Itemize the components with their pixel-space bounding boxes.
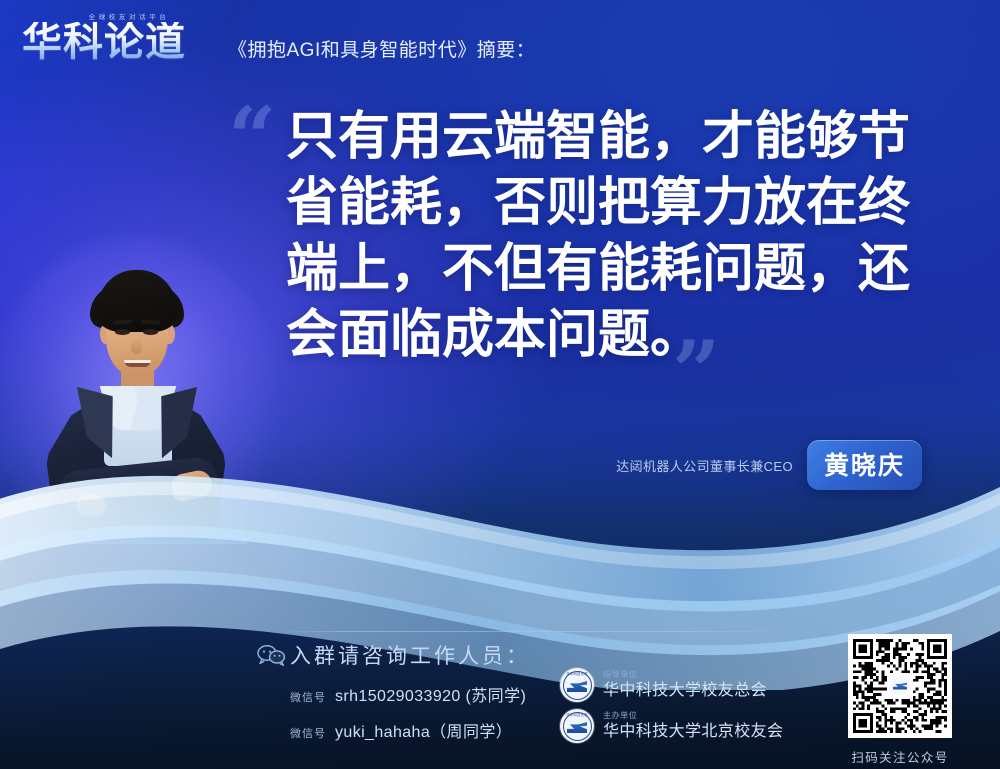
seal-text: 华中科技大学: [560, 712, 594, 717]
page-title: 《拥抱AGI和具身智能时代》摘要：: [228, 35, 535, 62]
organization-name: 华中科技大学北京校友会: [603, 723, 783, 741]
seal-text: 华中科技大学: [560, 671, 594, 676]
logo-wordmark: 华科论道: [22, 22, 222, 62]
portrait-eye-left: [115, 329, 130, 335]
poster-header: 全球校友对话平台 华科论道 《拥抱AGI和具身智能时代》摘要：: [0, 0, 1000, 88]
wechat-id[interactable]: yuki_hahaha（周同学）: [335, 718, 512, 742]
contact-heading: 入群请咨询工作人员：: [290, 640, 530, 670]
university-seal-icon: 华中科技大学: [560, 709, 594, 743]
qr-block: 扫码关注公众号: [838, 634, 962, 766]
organization-kind: 主办单位: [603, 712, 783, 721]
university-seal-icon: 华中科技大学: [560, 668, 594, 702]
quote-text: 只有用云端智能，才能够节省能耗，否则把算力放在终端上，不但有能耗问题，还会面临成…: [286, 104, 946, 368]
quote-close-mark: ”: [672, 330, 720, 414]
organization-row: 华中科技大学 主办单位 华中科技大学北京校友会: [560, 709, 783, 743]
brand-logo: 全球校友对话平台 华科论道: [22, 8, 222, 78]
portrait-eye-right: [143, 329, 158, 335]
poster-canvas: 全球校友对话平台 华科论道 《拥抱AGI和具身智能时代》摘要： “ 只有用云端智…: [0, 0, 1000, 769]
organizations-block: 华中科技大学 指导单位 华中科技大学校友总会 华中科技大学 主办单位 华中科技大…: [560, 668, 783, 750]
wechat-id[interactable]: srh15029033920 (苏同学): [335, 682, 526, 706]
organization-kind: 指导单位: [603, 671, 767, 680]
wechat-label: 微信号: [290, 689, 326, 705]
organization-row: 华中科技大学 指导单位 华中科技大学校友总会: [560, 668, 783, 702]
qr-caption: 扫码关注公众号: [838, 747, 962, 766]
qr-code[interactable]: [848, 634, 952, 738]
portrait-mouth: [124, 360, 151, 367]
quote-open-mark: “: [228, 96, 276, 180]
contact-row: 微信号 yuki_hahaha（周同学）: [290, 718, 530, 742]
qr-center-logo-icon: [890, 676, 910, 696]
organization-name: 华中科技大学校友总会: [603, 682, 767, 700]
footer-divider: [286, 631, 786, 632]
portrait-nose: [131, 338, 142, 354]
contact-block: 入群请咨询工作人员： 微信号 srh15029033920 (苏同学) 微信号 …: [290, 640, 530, 754]
wechat-icon: [256, 644, 286, 666]
wechat-label: 微信号: [290, 725, 326, 741]
contact-row: 微信号 srh15029033920 (苏同学): [290, 682, 530, 706]
